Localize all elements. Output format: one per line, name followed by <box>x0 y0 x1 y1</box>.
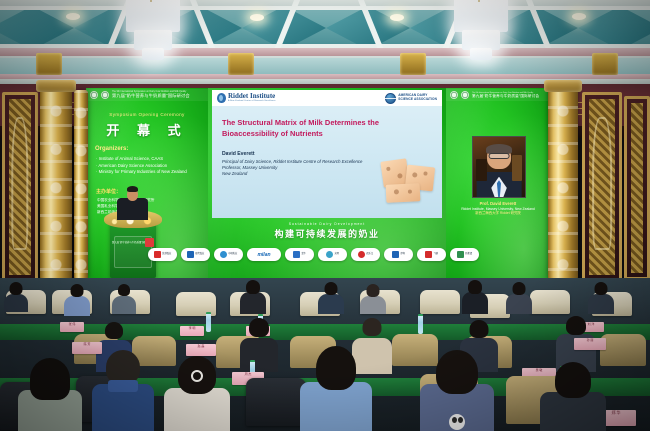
sponsor-chip: 蒙牛 <box>285 248 314 261</box>
audience-person <box>164 356 230 431</box>
left-header-zh: 第九届“奶牛营养与牛奶质量”国际研讨会 <box>112 93 190 98</box>
carved-wall-panel-far-right <box>624 96 650 280</box>
panda-print-icon <box>449 414 465 430</box>
sponsor-5-label: 蒙牛 <box>301 253 306 256</box>
portrait-caption: Prof. David Everett Riddet Institute, Ma… <box>446 201 550 216</box>
ceiling-ornament <box>228 53 254 75</box>
conference-photo: The 9th International Symposium on Dairy… <box>0 0 650 431</box>
ceiling-ornament <box>592 53 618 75</box>
sponsor-chip: 中地乳业 <box>214 248 243 261</box>
chair <box>600 334 646 366</box>
audience-person <box>4 282 28 312</box>
audience-person <box>462 280 488 314</box>
sponsor-logo-row: 优然牧业 现代牧业 中地乳业 milan 蒙牛 光明 君乐宝 伊利 <box>148 248 479 261</box>
name-card: 张 伟 <box>60 322 84 332</box>
chair <box>246 378 306 426</box>
chair <box>530 290 570 314</box>
ceiling-downlight <box>66 13 80 20</box>
author-name: David Everett <box>222 151 412 157</box>
ceiling <box>0 0 650 88</box>
audience-person <box>360 284 386 314</box>
organizer-item: · Institute of Animal Science, CAAS <box>96 156 187 163</box>
sponsor-8-icon <box>392 251 399 258</box>
name-card-text: 李 明 <box>180 326 204 330</box>
water-bottle <box>206 312 211 332</box>
sponsor-2-label: 现代牧业 <box>195 253 204 256</box>
sponsor-chip: milan <box>247 248 281 261</box>
ceiling-downlight <box>250 14 264 21</box>
sponsor-7-label: 君乐宝 <box>366 253 373 256</box>
chair <box>420 290 460 314</box>
sponsor-banner-en: Sustainable Dairy Development <box>208 222 446 226</box>
sponsor-chip: 光明 <box>318 248 347 261</box>
ceiling-downlight <box>572 13 586 20</box>
ceiling-downlight <box>390 14 404 21</box>
cheese-illustration <box>372 158 438 210</box>
name-card: 孙 丽 <box>574 338 606 350</box>
audience-person <box>420 350 494 431</box>
sponsor-banner-zh: 构建可持续发展的奶业 <box>208 227 446 240</box>
audience-person <box>540 362 606 431</box>
sponsor-10-icon <box>457 251 464 258</box>
column-capital-right <box>544 80 582 92</box>
sponsor-9-label: 飞鹤 <box>433 253 438 256</box>
portrait-affiliation-zh: 新西兰梅西大学 Riddet 研究院 <box>446 211 550 216</box>
sponsor-chip: 优然牧业 <box>148 248 177 261</box>
ceiling-ornament <box>400 53 426 75</box>
organizer-item: · American Dairy Science Association <box>96 163 187 170</box>
sponsor-10-label: 新希望 <box>465 253 472 256</box>
name-card: 赵 磊 <box>186 344 216 356</box>
slide-logo-bar: Riddet Institute A New Zealand Centre of… <box>212 90 442 106</box>
ceiling-ornament <box>36 53 62 75</box>
right-screen-header: The 9th International Symposium on Dairy… <box>446 89 550 101</box>
sponsor-chip: 伊利 <box>384 248 413 261</box>
sponsor-4-label: milan <box>257 252 270 258</box>
sponsor-2-icon <box>187 251 194 258</box>
audience-person <box>240 280 266 314</box>
speaker-body <box>117 198 148 220</box>
organizers-label: Organizers: <box>95 146 128 152</box>
audience-person <box>92 350 154 431</box>
sponsor-chip: 君乐宝 <box>351 248 380 261</box>
caas-logo-icon <box>90 91 98 99</box>
sponsor-9-icon <box>425 251 432 258</box>
audience-person <box>318 282 344 314</box>
sponsor-chip: 新希望 <box>450 248 479 261</box>
carved-wall-panel-right <box>582 92 622 282</box>
left-screen-header: The 9th International Symposium on Dairy… <box>86 89 208 101</box>
water-bottle <box>418 314 423 334</box>
sponsor-3-icon <box>220 251 227 258</box>
adsa-logo: AMERICAN DAIRY SCIENCE ASSOCIATION <box>385 93 437 104</box>
audience-person <box>588 282 614 314</box>
sponsor-1-icon <box>154 251 161 258</box>
speaker-portrait <box>472 136 526 198</box>
sponsor-5-icon <box>293 251 300 258</box>
caas-logo-icon <box>450 91 458 99</box>
speaker-hair <box>127 186 138 192</box>
audience-area: 张 伟 李 明 王 强 刘 洋 <box>0 278 650 431</box>
name-card-text: 张 伟 <box>60 322 84 326</box>
left-subtitle-en: Symposium Opening Ceremony <box>86 112 208 117</box>
organizer-item: · Ministry for Primary Industries of New… <box>96 169 187 176</box>
adsa-logo-icon <box>101 91 109 99</box>
sponsor-8-label: 伊利 <box>400 253 405 256</box>
name-card: 李 明 <box>180 326 204 336</box>
name-card-text: 周 杰 <box>232 372 264 376</box>
name-card-text: 陈 芳 <box>72 342 102 346</box>
name-card-text: 孙 丽 <box>574 338 606 342</box>
sponsor-6-icon <box>326 251 333 258</box>
audience-person <box>240 318 278 372</box>
riddet-institute-logo: Riddet Institute A New Zealand Centre of… <box>217 93 276 103</box>
audience-person <box>112 284 136 314</box>
column-capital-left <box>36 80 76 92</box>
sponsor-1-label: 优然牧业 <box>162 253 171 256</box>
sponsor-chip: 飞鹤 <box>417 248 446 261</box>
sponsor-7-icon <box>358 251 365 258</box>
name-card-text: 赵 磊 <box>186 344 216 348</box>
audience-person <box>18 358 82 431</box>
adsa-line-2: SCIENCE ASSOCIATION <box>398 98 437 102</box>
adsa-logo-icon <box>461 91 469 99</box>
gold-column-right <box>548 88 578 280</box>
globe-icon <box>385 93 396 104</box>
slide-title: The Structural Matrix of Milk Determines… <box>222 118 402 139</box>
audience-person <box>300 346 372 431</box>
sponsor-3-label: 中地乳业 <box>228 253 237 256</box>
gold-column-left <box>40 88 72 280</box>
right-header-zh: 第九届“奶牛营养与牛奶质量”国际研讨会 <box>472 94 539 98</box>
riddet-mark-icon <box>217 93 226 103</box>
gold-column-center-left <box>74 90 88 280</box>
left-title-zh: 开 幕 式 <box>86 120 208 139</box>
audience-person <box>64 284 90 316</box>
sponsor-chip: 现代牧业 <box>181 248 210 261</box>
supporters-label: 主办单位： <box>96 188 121 195</box>
riddet-logo-sub: A New Zealand Centre of Research Excelle… <box>228 100 276 102</box>
presentation-slide: Riddet Institute A New Zealand Centre of… <box>212 90 442 218</box>
audience-person <box>506 282 532 314</box>
sponsor-6-label: 光明 <box>334 253 339 256</box>
carved-wall-panel-left <box>2 92 38 282</box>
